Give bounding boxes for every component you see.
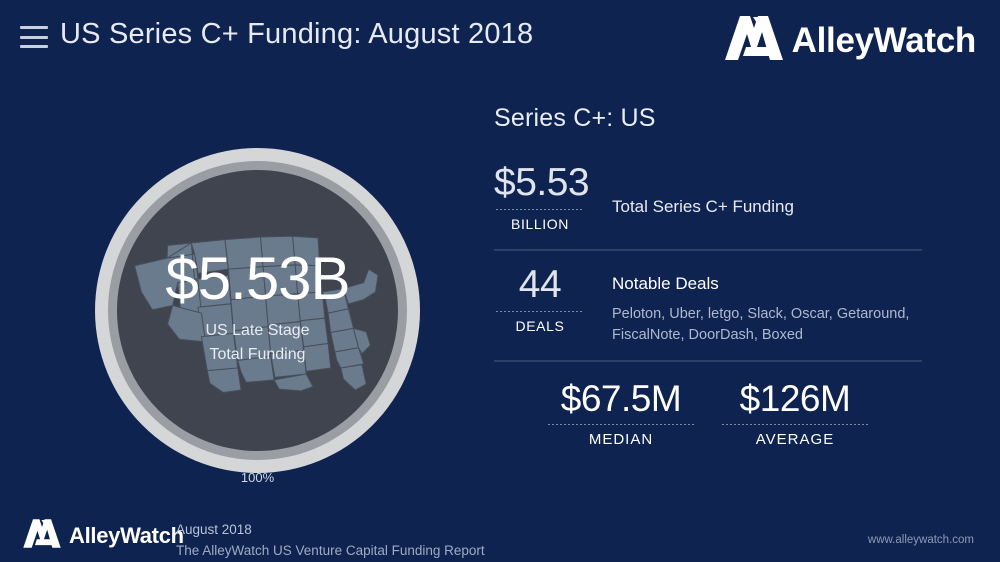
hamburger-bar xyxy=(20,36,48,39)
slide-root: US Series C+ Funding: August 2018 AlleyW… xyxy=(0,0,1000,562)
stats-panel: Series C+: US $5.53 BILLION Total Series… xyxy=(494,104,922,448)
median-value: $67.5M xyxy=(546,380,696,419)
deals-count-unit: DEALS xyxy=(494,318,586,334)
deals-count-value: 44 xyxy=(494,265,586,306)
dotted-divider xyxy=(548,424,694,425)
total-funding-label: Total Series C+ Funding xyxy=(612,197,794,217)
aw-monogram-icon xyxy=(723,14,785,67)
notable-deals-body: Notable Deals Peloton, Uber, letgo, Slac… xyxy=(612,274,912,346)
aw-monogram-icon xyxy=(22,518,62,554)
section-divider xyxy=(494,249,922,251)
funding-donut-chart: $5.53B US Late Stage Total Funding xyxy=(95,148,420,473)
average-value: $126M xyxy=(720,380,870,419)
panel-title: Series C+: US xyxy=(494,104,922,133)
dotted-divider xyxy=(496,311,584,312)
alleywatch-logo-footer[interactable]: AlleyWatch xyxy=(22,518,184,554)
donut-disc xyxy=(117,170,398,451)
footer-report-title: The AlleyWatch US Venture Capital Fundin… xyxy=(176,541,485,562)
us-map-icon xyxy=(127,228,389,394)
average-caption: AVERAGE xyxy=(720,431,870,448)
total-funding-stat: $5.53 BILLION xyxy=(494,163,586,232)
notable-deals-section: 44 DEALS Notable Deals Peloton, Uber, le… xyxy=(494,265,922,346)
page-title: US Series C+ Funding: August 2018 xyxy=(60,18,533,51)
hamburger-bar xyxy=(20,45,48,48)
average-stat: $126M AVERAGE xyxy=(720,380,870,448)
alleywatch-wordmark: AlleyWatch xyxy=(69,525,184,547)
dotted-divider xyxy=(496,209,584,210)
notable-deals-list: Peloton, Uber, letgo, Slack, Oscar, Geta… xyxy=(612,304,912,346)
footer-report-text: August 2018 The AlleyWatch US Venture Ca… xyxy=(176,520,485,562)
alleywatch-wordmark: AlleyWatch xyxy=(792,23,976,58)
donut-percent-label: 100% xyxy=(95,470,420,485)
hamburger-icon[interactable] xyxy=(20,26,48,48)
deals-count-stat: 44 DEALS xyxy=(494,265,586,334)
notable-deals-heading: Notable Deals xyxy=(612,274,912,294)
footer: AlleyWatch August 2018 The AlleyWatch US… xyxy=(0,504,1000,562)
footer-date: August 2018 xyxy=(176,520,485,541)
dotted-divider xyxy=(722,424,868,425)
total-funding-value: $5.53 xyxy=(494,163,586,204)
total-funding-section: $5.53 BILLION Total Series C+ Funding xyxy=(494,163,922,232)
header: US Series C+ Funding: August 2018 AlleyW… xyxy=(0,0,1000,92)
section-divider xyxy=(494,360,922,362)
median-average-section: $67.5M MEDIAN $126M AVERAGE xyxy=(494,380,922,448)
total-funding-unit: BILLION xyxy=(494,216,586,232)
median-stat: $67.5M MEDIAN xyxy=(546,380,696,448)
hamburger-bar xyxy=(20,26,48,29)
footer-url[interactable]: www.alleywatch.com xyxy=(868,534,974,546)
alleywatch-logo-header[interactable]: AlleyWatch xyxy=(723,14,976,67)
median-caption: MEDIAN xyxy=(546,431,696,448)
